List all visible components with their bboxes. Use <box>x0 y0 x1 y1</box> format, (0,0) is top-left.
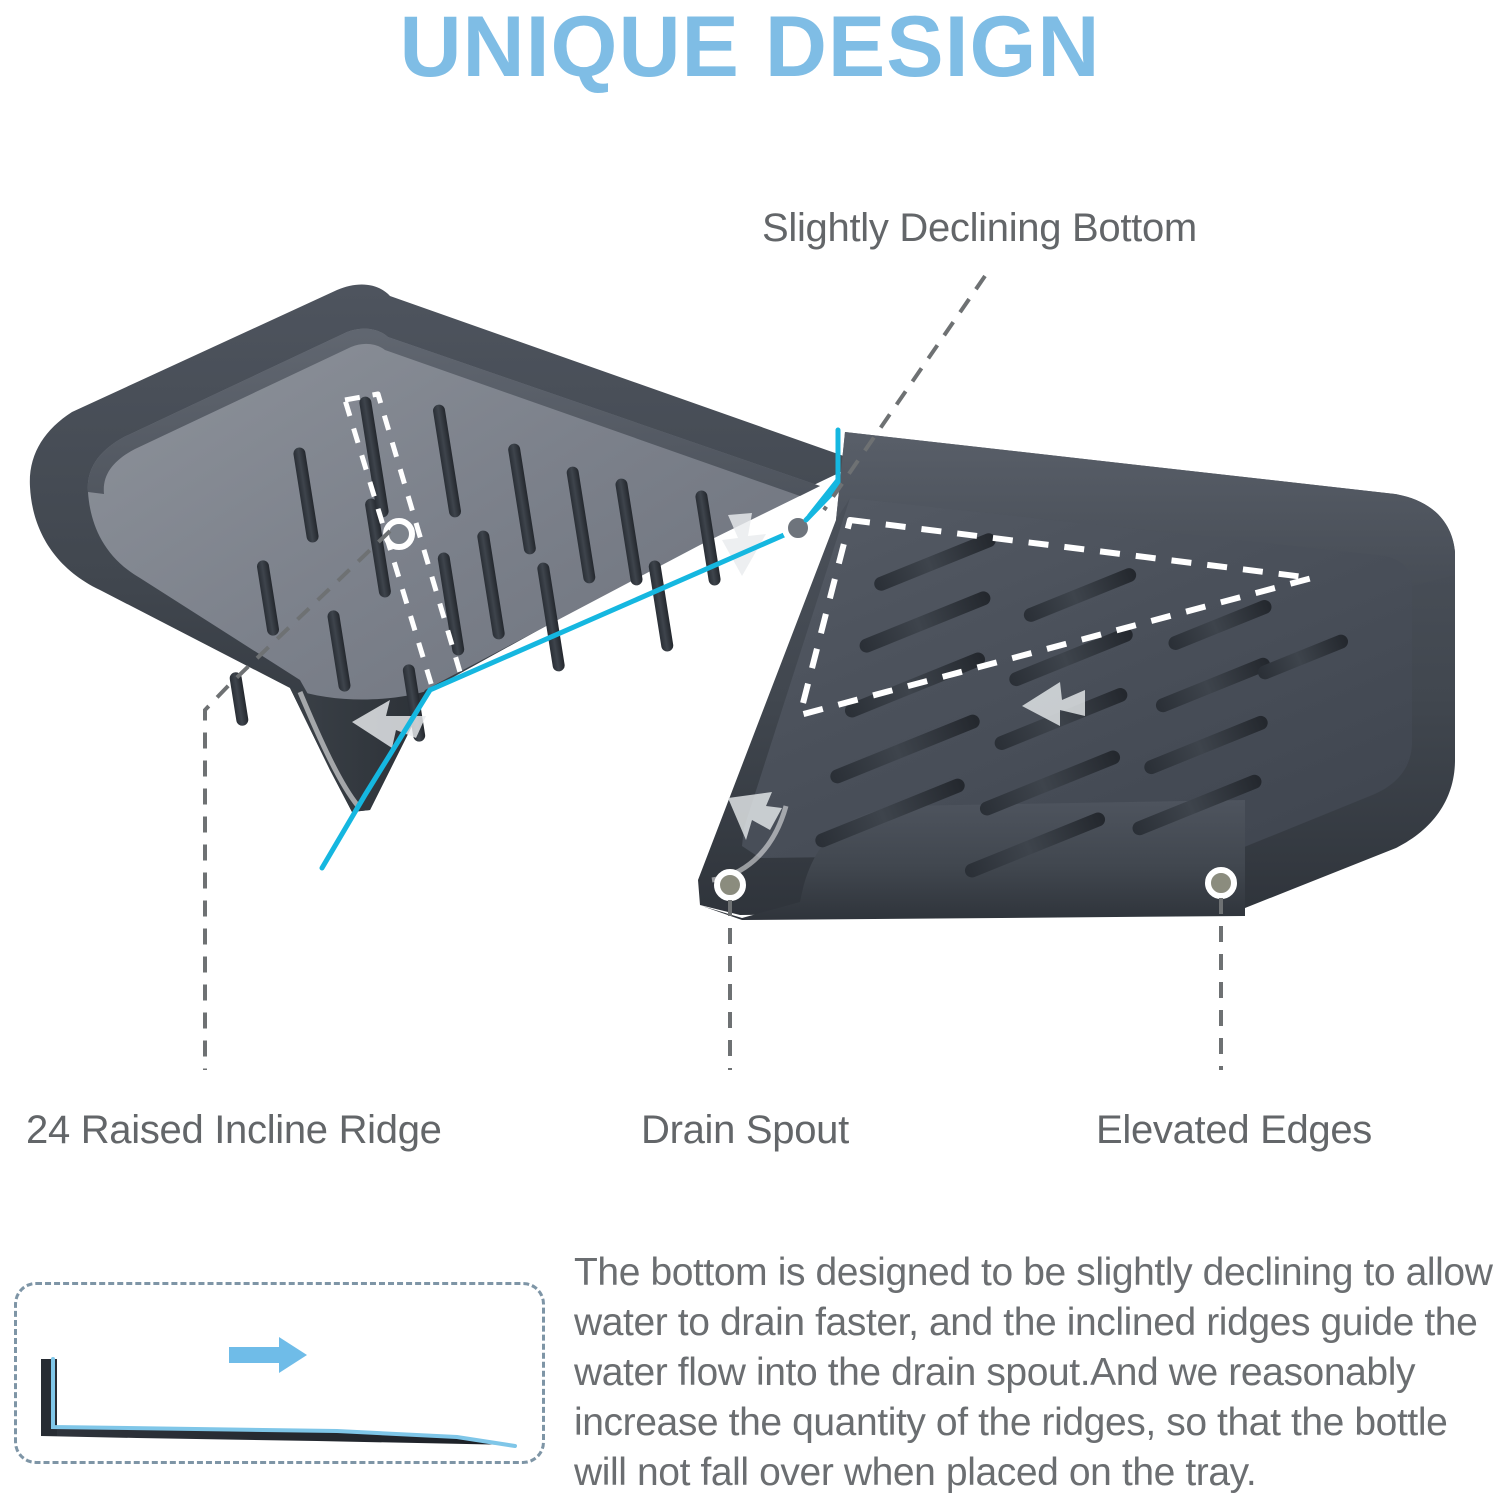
flow-arrow-right-middle <box>1022 682 1085 726</box>
left-tray-spout-highlight <box>300 692 358 806</box>
cross-section-diagram <box>17 1285 548 1467</box>
right-tray-spout-highlight <box>712 806 786 880</box>
cross-section-panel <box>14 1282 545 1464</box>
cyan-decline-line-left <box>322 430 838 868</box>
flow-arrow-left-upper <box>722 513 766 576</box>
left-tray-outer-rim <box>30 284 855 812</box>
right-arrow-blue-icon <box>229 1337 307 1373</box>
right-tray-angled-view <box>698 432 1455 920</box>
left-tray-inner-rim-highlight <box>88 329 820 496</box>
infographic-page: UNIQUE DESIGN <box>0 0 1500 1498</box>
flow-arrow-left-lower <box>352 700 426 748</box>
page-title: UNIQUE DESIGN <box>0 2 1500 92</box>
circle-marker-drain-spout <box>717 872 743 898</box>
description-paragraph: The bottom is designed to be slightly de… <box>574 1248 1500 1498</box>
circle-marker-declining <box>785 515 811 541</box>
right-tray-ridges <box>813 531 1350 879</box>
circle-marker-elevated-edges <box>1208 870 1234 896</box>
left-tray-front-wall <box>290 688 430 812</box>
circle-marker-ridge <box>386 521 412 547</box>
right-tray-basin <box>742 498 1412 858</box>
leader-declining-bottom <box>824 276 985 510</box>
callout-label-elevated-edges: Elevated Edges <box>1096 1108 1372 1153</box>
flow-arrow-right-spout <box>728 792 782 840</box>
left-tray-top-view <box>30 284 855 868</box>
right-tray-front-wall <box>702 800 1245 920</box>
leader-lines <box>205 276 1221 1070</box>
callout-label-drain-spout: Drain Spout <box>641 1108 849 1153</box>
dashed-triangle-highlight <box>800 520 1312 715</box>
right-tray-back-rim <box>836 432 1455 586</box>
right-tray-outer-rim <box>698 432 1455 915</box>
leader-raised-incline-ridge <box>205 531 390 1070</box>
callout-label-slightly-declining-bottom: Slightly Declining Bottom <box>762 206 1197 251</box>
dashed-ridge-outline <box>345 394 470 713</box>
callout-label-raised-incline-ridge: 24 Raised Incline Ridge <box>26 1108 442 1153</box>
left-tray-ridges <box>229 396 722 743</box>
cyan-decline-line-right <box>806 433 838 520</box>
left-tray-basin <box>88 329 820 795</box>
